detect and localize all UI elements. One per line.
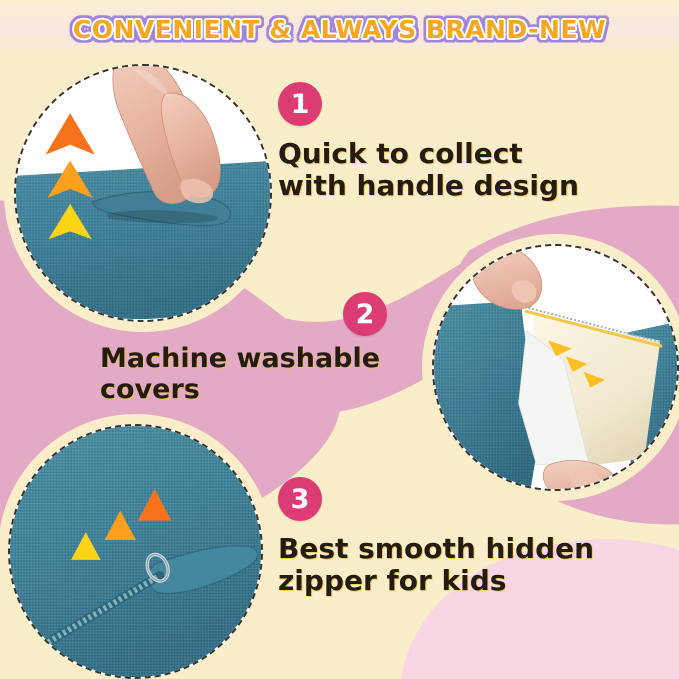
step-badge-3: 3: [278, 477, 322, 521]
hidden-zipper-closeup-photo: [8, 424, 263, 679]
photo-2-svg: [434, 246, 677, 489]
photo-1-svg: [16, 66, 270, 320]
step-badge-1: 1: [278, 82, 322, 126]
infographic-canvas: CONVENIENT & ALWAYS BRAND-NEW: [0, 0, 679, 679]
banner-title: CONVENIENT & ALWAYS BRAND-NEW: [73, 15, 606, 44]
hand-lifting-handle-photo: [14, 64, 272, 322]
feature-block-2: 2 Machine washable covers: [100, 292, 380, 406]
step-badge-2: 2: [343, 292, 387, 336]
feature-caption-3: Best smooth hidden zipper for kids: [278, 533, 594, 597]
feature-caption-1: Quick to collect with handle design: [278, 138, 579, 202]
feature-block-3: 3 Best smooth hidden zipper for kids: [278, 477, 594, 597]
header-banner: CONVENIENT & ALWAYS BRAND-NEW: [0, 0, 679, 58]
feature-caption-2: Machine washable covers: [100, 344, 380, 406]
photo-3-svg: [10, 426, 261, 677]
feature-block-1: 1 Quick to collect with handle design: [278, 82, 579, 202]
cover-opened-showing-insert-photo: [432, 244, 679, 491]
